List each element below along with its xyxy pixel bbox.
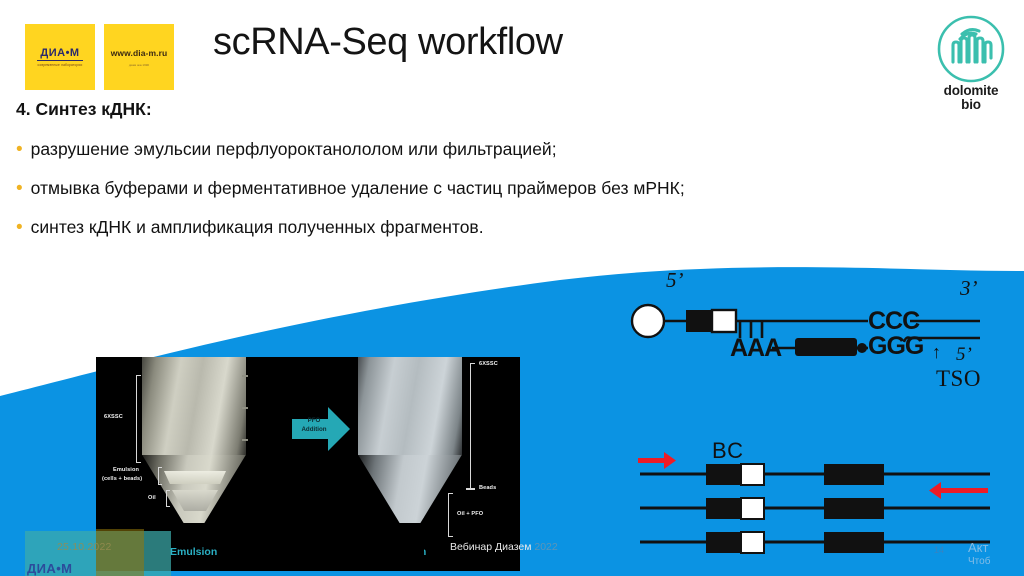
five-prime-right-label: 5’ <box>956 344 972 366</box>
bullet-item: • отмывка буферами и ферментативное удал… <box>16 178 685 199</box>
tube-broken-emulsion-cont <box>424 357 462 523</box>
diam-logo-text: ДИА•М <box>40 48 79 59</box>
activation-watermark: Акт Чтоб <box>968 540 990 569</box>
ggg-label: GGG <box>868 332 923 361</box>
pfo-arrow-label-1: PFO <box>294 417 334 424</box>
photo-label-emulsion: Emulsion <box>113 467 139 473</box>
dolomite-bio-logo: dolomite bio <box>932 14 1010 118</box>
photo-label-beads: Beads <box>479 485 496 491</box>
photo-label-buffer-right: 6XSSC <box>479 361 498 367</box>
website-logo-text: www.dia-m.ru <box>111 48 168 58</box>
cdna-synthesis-diagram: 5’ CCC GGG AAA 3’ ↑ 5’ TSO <box>620 272 1024 400</box>
poly-a-label: AAA <box>730 334 781 363</box>
page-title: scRNA-Seq workflow <box>213 21 563 64</box>
activation-watermark-line2: Чтоб <box>968 556 990 569</box>
barcode-label: BC <box>712 438 744 464</box>
reverse-primer-arrow-icon <box>929 482 988 499</box>
dolomite-logo-line1: dolomite <box>944 84 999 98</box>
footer-center-text: Вебинар Диазем 2022 <box>450 541 558 553</box>
pfo-arrow-label-2: Addition <box>290 426 338 433</box>
forward-primer-arrow-icon <box>638 452 676 469</box>
photo-caption-left: Emulsion <box>170 546 217 558</box>
diam-logo-subtext: современные лаборатории <box>38 62 83 66</box>
amplified-fragments-diagram: BC <box>620 432 1024 576</box>
footer-webinar-year: 2022 <box>534 541 557 553</box>
slide-number: 14 <box>934 545 944 555</box>
bullet-text: разрушение эмульсии перфлуороктанололом … <box>31 139 557 160</box>
bullet-marker-icon: • <box>16 140 23 159</box>
bullet-item: • синтез кДНК и амплификация полученных … <box>16 217 484 238</box>
footer-brand: ДИА•М <box>27 561 72 576</box>
bullet-marker-icon: • <box>16 218 23 237</box>
emulsion-layer <box>162 471 228 484</box>
emulsion-photo-right: 6XSSC Beads Oil + PFO Broken Emulsion <box>424 357 520 571</box>
bullet-item: • разрушение эмульсии перфлуороктанололо… <box>16 139 557 160</box>
photo-label-emulsion-sub: (cells + beads) <box>102 476 142 482</box>
footer-date: 25.10.2022 <box>57 541 112 553</box>
activation-watermark-line1: Акт <box>968 540 988 555</box>
photo-label-oil-pfo: Oil + PFO <box>457 511 483 517</box>
slide-canvas: ДИА•М современные лаборатории www.dia-m.… <box>0 0 1024 576</box>
tso-arrow-icon: ↑ <box>932 342 941 363</box>
three-prime-label: 3’ <box>960 276 978 301</box>
bullet-text: синтез кДНК и амплификация полученных фр… <box>31 217 484 238</box>
tso-label: TSO <box>936 366 981 392</box>
photo-label-buffer: 6XSSC <box>104 414 123 420</box>
website-logo: www.dia-m.ru диам ока 1990 <box>104 24 174 90</box>
website-logo-subtext: диам ока 1990 <box>129 63 149 67</box>
dolomite-bio-circle-icon <box>936 14 1006 84</box>
bullet-text: отмывка буферами и ферментативное удален… <box>31 178 685 199</box>
dolomite-logo-line2: bio <box>961 98 981 112</box>
five-prime-left-label: 5’ <box>666 268 684 293</box>
bead-icon <box>632 305 664 337</box>
diam-logo-rule <box>37 60 83 61</box>
photo-caption-right: Broken Emulsion <box>424 546 426 558</box>
diam-logo: ДИА•М современные лаборатории <box>25 24 95 90</box>
photo-label-oil: Oil <box>148 495 156 501</box>
tube-broken-emulsion <box>358 357 424 523</box>
footer-webinar-label: Вебинар Диазем <box>450 541 531 553</box>
section-subheading: 4. Синтез кДНК: <box>16 99 152 120</box>
bullet-marker-icon: • <box>16 179 23 198</box>
